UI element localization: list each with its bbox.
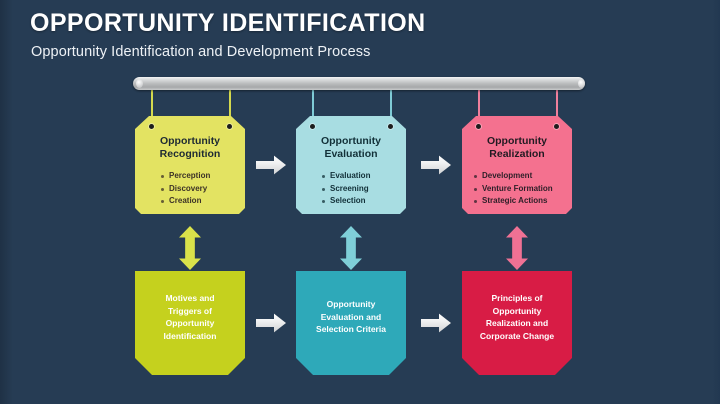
page-subtitle: Opportunity Identification and Developme… xyxy=(31,44,371,60)
tag-eyelet-evaluation-left xyxy=(310,124,315,129)
box-evaluation-and-selection-criteria[interactable]: Opportunity Evaluation and Selection Cri… xyxy=(296,271,406,375)
slide-canvas: OPPORTUNITY IDENTIFICATION Opportunity I… xyxy=(0,0,720,404)
link-realization-principles-icon xyxy=(506,226,528,270)
tag-string-evaluation-right xyxy=(390,90,392,120)
tag-bullet-list-realization: Development Venture Formation Strategic … xyxy=(474,170,572,208)
list-item: Selection xyxy=(322,195,406,208)
tag-title-evaluation: Opportunity Evaluation xyxy=(296,135,406,161)
rail-cap-left xyxy=(136,79,143,88)
link-recognition-motives-icon xyxy=(179,226,201,270)
tag-bullet-list-evaluation: Evaluation Screening Selection xyxy=(322,170,406,208)
tag-title-recognition: Opportunity Recognition xyxy=(135,135,245,161)
tag-string-recognition-right xyxy=(229,90,231,120)
tag-eyelet-recognition-right xyxy=(227,124,232,129)
arrow-criteria-to-principles-icon xyxy=(421,313,451,333)
list-item: Perception xyxy=(161,170,245,183)
page-title: OPPORTUNITY IDENTIFICATION xyxy=(30,9,426,38)
tag-eyelet-realization-left xyxy=(476,124,481,129)
link-evaluation-criteria-icon xyxy=(340,226,362,270)
tag-string-recognition-left xyxy=(151,90,153,120)
tag-bullet-list-recognition: Perception Discovery Creation xyxy=(161,170,245,208)
hanging-rail xyxy=(133,77,585,90)
box-principles-of-realization[interactable]: Principles of Opportunity Realization an… xyxy=(462,271,572,375)
tag-opportunity-recognition[interactable]: Opportunity Recognition Perception Disco… xyxy=(135,116,245,214)
tag-opportunity-realization[interactable]: Opportunity Realization Development Vent… xyxy=(462,116,572,214)
tag-eyelet-recognition-left xyxy=(149,124,154,129)
box-label-motives: Motives and Triggers of Opportunity Iden… xyxy=(135,292,245,354)
tag-string-evaluation-left xyxy=(312,90,314,120)
list-item: Discovery xyxy=(161,183,245,196)
list-item: Venture Formation xyxy=(474,183,572,196)
tag-eyelet-evaluation-right xyxy=(388,124,393,129)
tag-title-realization: Opportunity Realization xyxy=(462,135,572,161)
box-label-criteria: Opportunity Evaluation and Selection Cri… xyxy=(296,298,406,348)
tag-string-realization-right xyxy=(556,90,558,120)
arrow-evaluation-to-realization-icon xyxy=(421,155,451,175)
tag-string-realization-left xyxy=(478,90,480,120)
arrow-recognition-to-evaluation-icon xyxy=(256,155,286,175)
list-item: Evaluation xyxy=(322,170,406,183)
list-item: Development xyxy=(474,170,572,183)
list-item: Creation xyxy=(161,195,245,208)
tag-eyelet-realization-right xyxy=(554,124,559,129)
rail-cap-right xyxy=(578,79,585,88)
tag-opportunity-evaluation[interactable]: Opportunity Evaluation Evaluation Screen… xyxy=(296,116,406,214)
box-label-principles: Principles of Opportunity Realization an… xyxy=(462,292,572,354)
list-item: Strategic Actions xyxy=(474,195,572,208)
list-item: Screening xyxy=(322,183,406,196)
box-motives-and-triggers[interactable]: Motives and Triggers of Opportunity Iden… xyxy=(135,271,245,375)
arrow-motives-to-criteria-icon xyxy=(256,313,286,333)
